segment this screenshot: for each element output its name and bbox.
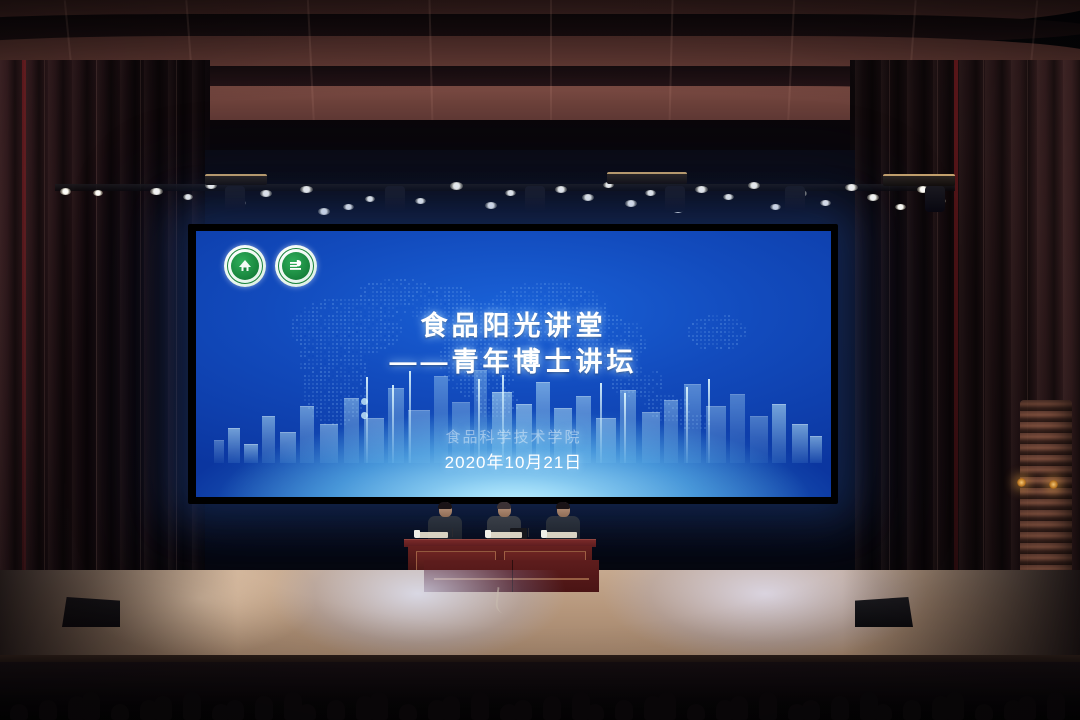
stage-spotlight [867,194,879,201]
screen-title-line2: ——青年博士讲坛 [196,345,831,381]
audience-head [730,696,748,720]
audience-head [111,704,129,720]
microphone [528,528,529,537]
stage-spotlight [845,184,858,191]
screen-title-line1: 食品阳光讲堂 [196,309,831,345]
stage-spotlight [695,186,708,193]
microphone [452,528,453,537]
screen-organization: 食品科学技术学院 [196,426,831,447]
document-papers [545,532,577,538]
audience-head [226,700,244,720]
stage-spotlight [60,188,71,195]
audience-head [586,704,604,720]
truss-bar [55,184,955,191]
stage-photo: 食品阳光讲堂 ——青年博士讲坛 食品科学技术学院 2020年10月21日 [0,0,1080,720]
stage-spotlight [895,204,906,210]
curtain-red-trim-right [954,60,958,640]
water-cup [541,530,547,538]
audience-head [298,704,316,720]
document-papers [418,532,448,538]
skyline-tower-sphere [361,398,368,405]
wall-accent-light [1017,478,1026,487]
screen-logos [224,245,317,287]
stage-spotlight [485,202,497,209]
audience-head [543,696,561,720]
audience-head [687,704,705,720]
audience-head [183,692,201,720]
audience-head [946,692,964,720]
moving-head-light [225,186,245,212]
stage-spotlight [820,200,831,206]
led-bar-fixture [205,174,267,185]
curtain-red-trim-left [22,60,26,640]
stage-spotlight [582,194,594,201]
audience-head [370,692,388,720]
audience-head [1018,696,1036,720]
audience-head [831,696,849,720]
emblem-left-icon [224,245,266,287]
stage-spotlight [365,196,375,202]
audience-head [471,692,489,720]
audience-head [903,700,921,720]
stage-spotlight [343,204,354,210]
stage-spotlight [260,190,272,197]
audience-head [39,700,57,720]
stage-curtain-left [0,60,205,640]
skyline-tower-sphere [361,412,368,419]
audience-head [399,704,417,720]
water-cup [414,530,420,538]
audience-head [154,696,172,720]
audience-head [255,696,273,720]
stage-spotlight [723,194,734,200]
stage-spotlight [625,200,637,207]
stage-spotlight [183,194,193,200]
stage-spotlight [318,208,330,215]
audience-head [874,704,892,720]
moving-head-light [385,186,405,212]
stage-spotlight [150,188,163,195]
stage-spotlight [748,182,760,189]
stage-spotlight [450,182,463,190]
moving-head-light [665,186,685,212]
audience-head [82,692,100,720]
audience-head [1047,692,1065,720]
stage-spotlight [505,190,516,196]
moving-head-light [785,186,805,212]
audience-head [514,700,532,720]
audience-head [759,692,777,720]
moving-head-light [925,186,945,212]
stage-spotlight [415,198,426,204]
stage-spotlight [93,190,103,196]
stage-spotlight [300,186,313,193]
screen-title-block: 食品阳光讲堂 ——青年博士讲坛 [196,309,831,380]
stage-spotlight [770,204,781,210]
audience-head [975,704,993,720]
led-bar-fixture [607,172,687,184]
wall-accent-light [1049,480,1058,489]
audience-head [327,700,345,720]
water-cup [485,530,491,538]
led-screen[interactable]: 食品阳光讲堂 ——青年博士讲坛 食品科学技术学院 2020年10月21日 [196,231,831,497]
screen-date: 2020年10月21日 [196,448,831,473]
document-papers [488,532,522,538]
screen-subtitle-block: 食品科学技术学院 2020年10月21日 [196,426,831,473]
audience-head [442,696,460,720]
led-bar-fixture [883,174,955,186]
audience-head [802,700,820,720]
emblem-right-icon [275,245,317,287]
audience-head [10,704,28,720]
moving-head-light [525,186,545,212]
audience-area [0,662,1080,720]
stage-spotlight [555,186,567,193]
stage-spotlight [645,190,656,196]
lighting-truss [55,160,955,228]
floor-vignette [0,570,1080,665]
audience-head [658,692,676,720]
audience-head [615,700,633,720]
